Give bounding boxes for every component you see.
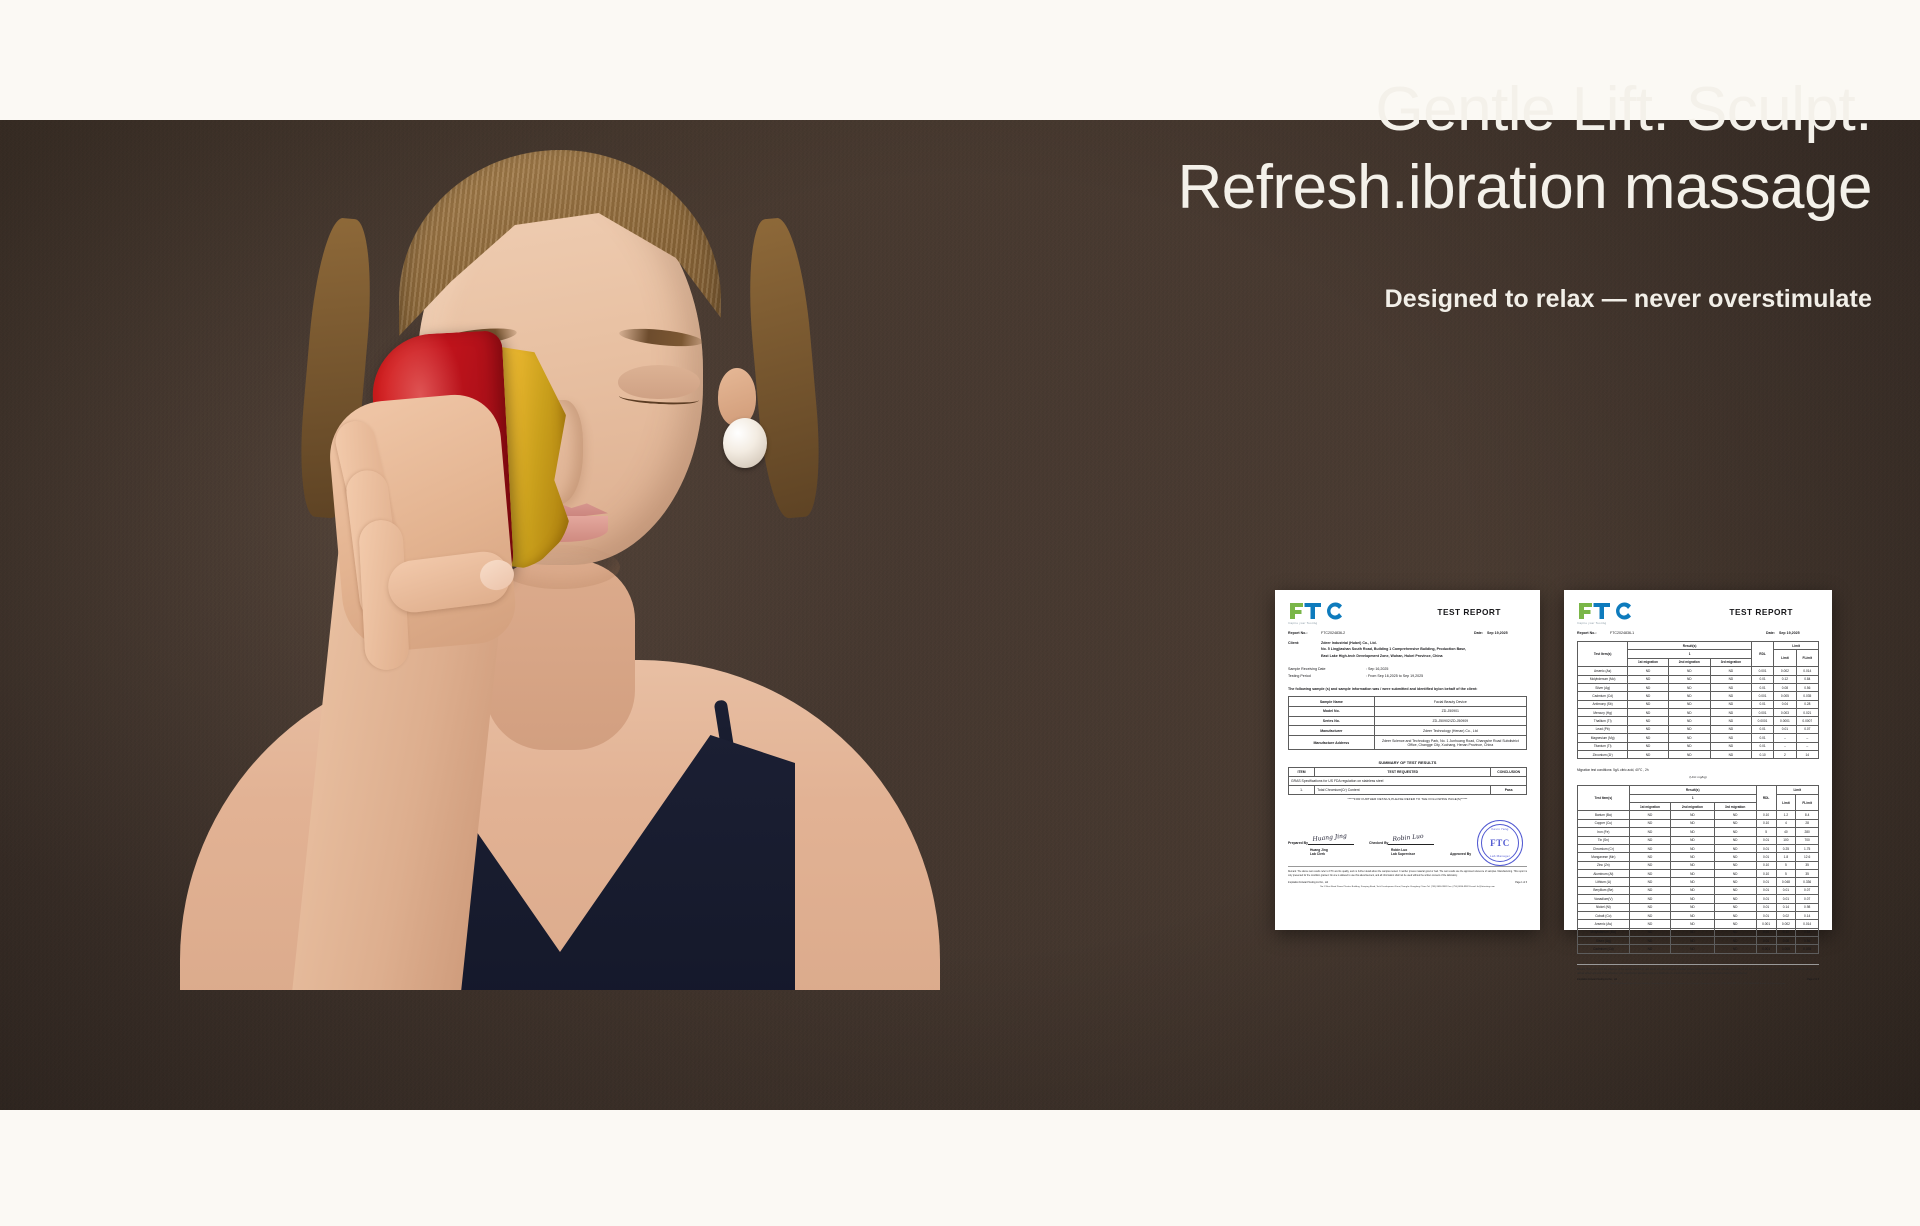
test-item-name: Cadmium (Cd) (1578, 692, 1628, 700)
test-item-name: Silver (Ag) (1578, 683, 1628, 691)
table-row: Tin (Sn)NDNDND0.01100700 (1578, 836, 1819, 844)
results-body-2: Barium (Ba)NDNDND0.101.28.4Copper (Cu)ND… (1578, 811, 1819, 953)
migration-1-result: ND (1628, 742, 1668, 750)
document-footer: Inspiration Forward Testing Ltd Co., Ltd… (1288, 882, 1527, 884)
client-block: Client: Zdeer Industrial (Hubei) Co., Lt… (1288, 640, 1527, 659)
summary-span-text: GRAS Specifications for US FDA regulatio… (1289, 777, 1527, 786)
test-item-name: Beryllium (Be) (1578, 886, 1630, 894)
results-body-1: Arsenic (As)NDNDND0.0010.0020.014Molybde… (1578, 667, 1819, 759)
signature-role: Lab Clerk (1310, 852, 1365, 856)
migration-2-result: ND (1668, 717, 1710, 725)
fl-limit-value: 0.84 (1796, 675, 1818, 683)
migration-2-result: ND (1671, 853, 1714, 861)
hero-copy-block: Gentle Lift. Sculpt. Refresh.ibration ma… (852, 75, 1872, 314)
table-row: Magnesium (Mg)NDNDND0.01---- (1578, 734, 1819, 742)
test-item-name: Zinc (Zn) (1578, 861, 1630, 869)
col-test-item: Test Item(s) (1578, 642, 1628, 667)
migration-1-result: ND (1629, 911, 1670, 919)
document-header: Inspire your Testing TEST REPORT (1577, 601, 1819, 625)
footer-company: Inspiration Forward Testing Ltd Co., Ltd (1577, 979, 1617, 981)
ftc-logo-mark (1288, 601, 1348, 621)
limit-value: 0.0001 (1774, 717, 1796, 725)
test-item-name: Cadmium (Cd) (1578, 945, 1630, 953)
test-item-name: Mercury (Hg) (1578, 709, 1628, 717)
table-row: Barium (Ba)NDNDND0.101.28.4 (1578, 811, 1819, 819)
report-no-label: Report No.: (1577, 631, 1610, 635)
migration-3-result: ND (1714, 811, 1756, 819)
limit-value: 0.01 (1774, 725, 1796, 733)
stamp-center-text: FTC (1490, 838, 1510, 848)
migration-2-result: ND (1671, 819, 1714, 827)
fl-limit-value: 0.014 (1796, 667, 1818, 675)
limit-value: 0.003 (1774, 709, 1796, 717)
signature-checked-by: Checked ByRobin Luo Robin Luo Lab Superv… (1369, 827, 1446, 856)
rdl-value: 0.10 (1756, 861, 1776, 869)
migration-1-result: ND (1628, 683, 1668, 691)
col-migration-3: 3rd migration (1714, 803, 1756, 811)
model-ear (718, 368, 756, 426)
migration-2-result: ND (1668, 667, 1710, 675)
fl-limit-value: 0.035 (1796, 945, 1819, 953)
migration-3-result: ND (1710, 692, 1751, 700)
test-item-name: Thallium (Tl) (1578, 717, 1628, 725)
migration-2-result: ND (1668, 675, 1710, 683)
rdl-value: 0.001 (1751, 667, 1773, 675)
signature-label: Prepared By (1288, 841, 1308, 845)
table-row: Antimony (Sb)NDNDND0.010.040.28 (1578, 700, 1819, 708)
migration-2-result: ND (1671, 945, 1714, 953)
client-label: Client: (1288, 640, 1321, 659)
rdl-value: 0.01 (1751, 742, 1773, 750)
migration-2-result: ND (1671, 895, 1714, 903)
fl-limit-value: 0.56 (1796, 683, 1818, 691)
migration-1-result: ND (1629, 853, 1670, 861)
rdl-value: 0.10 (1751, 750, 1773, 758)
col-test-item: Test Item(s) (1578, 786, 1630, 811)
limit-value: 0.002 (1776, 920, 1796, 928)
summary-item-no: 1. (1289, 786, 1315, 795)
migration-1-result: ND (1629, 937, 1670, 945)
migration-3-result: ND (1714, 920, 1756, 928)
fl-limit-value: 0.014 (1796, 920, 1819, 928)
table-row: Aluminum (Al)NDNDND0.10535 (1578, 870, 1819, 878)
table-row: Vanadium(V)NDNDND0.010.010.07 (1578, 895, 1819, 903)
headline-line-1: Gentle Lift. Sculpt. (852, 75, 1872, 145)
limit-value: 0.002 (1774, 667, 1796, 675)
col-conclusion: CONCLUSION (1491, 768, 1527, 777)
table-row: Cobalt (Co)NDNDND0.010.020.14 (1578, 911, 1819, 919)
test-item-name: Arsenic (As) (1578, 920, 1630, 928)
ftc-logo-mark (1577, 601, 1637, 621)
table-row: Beryllium (Be)NDNDND0.010.010.07 (1578, 886, 1819, 894)
table-row: Titanium (Ti)NDNDND0.01---- (1578, 742, 1819, 750)
migration-3-result: ND (1710, 750, 1751, 758)
test-item-name: Copper (Cu) (1578, 819, 1630, 827)
test-item-name: Molybdenum (Mo) (1578, 675, 1628, 683)
table-row: Molybdenum (Mo)NDNDND0.010.120.84 (1578, 928, 1819, 936)
migration-3-result: ND (1714, 945, 1756, 953)
migration-2-result: ND (1671, 828, 1714, 836)
signature-approved-by: Approved By Kevin Yang FTC Lab Manager (1450, 838, 1527, 856)
migration-2-result: ND (1671, 844, 1714, 852)
signature-scrawl: Huang Jing (1312, 832, 1347, 843)
limit-value: 0.08 (1774, 683, 1796, 691)
table-row: Arsenic (As)NDNDND0.0010.0020.014 (1578, 920, 1819, 928)
footer-company: Inspiration Forward Testing Ltd Co., Ltd (1288, 882, 1328, 884)
hair-side-right (742, 216, 826, 520)
migration-2-result: ND (1671, 911, 1714, 919)
test-item-name: Silver (Ag) (1578, 937, 1630, 945)
table-row: GRAS Specifications for US FDA regulatio… (1289, 777, 1527, 786)
rdl-value: 0.01 (1756, 911, 1776, 919)
summary-item-conclusion: Pass (1491, 786, 1527, 795)
migration-3-result: ND (1714, 886, 1756, 894)
rdl-value: 0.01 (1751, 683, 1773, 691)
migration-3-result: ND (1714, 853, 1756, 861)
migration-2-result: ND (1671, 836, 1714, 844)
table-row: Zinc (Zn)NDNDND0.10535 (1578, 861, 1819, 869)
rdl-value: 0.0001 (1751, 717, 1773, 725)
document-footer: Inspiration Forward Testing Ltd Co., Ltd… (1577, 979, 1819, 981)
rdl-value: 0.01 (1756, 928, 1776, 936)
info-value: Zdeer Technology (Henan) Co., Ltd (1374, 726, 1526, 736)
rdl-value: 0.01 (1756, 937, 1776, 945)
info-label: Manufacture Address (1289, 736, 1375, 750)
document-title: TEST REPORT (1729, 607, 1793, 617)
migration-3-result: ND (1714, 819, 1756, 827)
fl-limit-value: 35 (1796, 861, 1819, 869)
migration-3-result: ND (1714, 870, 1756, 878)
rdl-value: 0.01 (1751, 725, 1773, 733)
limit-value: 5 (1776, 861, 1796, 869)
info-label: Series No. (1289, 716, 1375, 726)
fl-limit-value: 0.07 (1796, 895, 1819, 903)
test-item-name: Nickel (Ni) (1578, 903, 1630, 911)
migration-2-result: ND (1668, 725, 1710, 733)
migration-results-table-2: Test Item(s) Result(s) RDL Limit 1 Limit… (1577, 785, 1819, 954)
results-sub-index: 1 (1629, 794, 1756, 802)
limit-value: 0.12 (1774, 675, 1796, 683)
report-date-value: Sep 19,2025 (1487, 631, 1527, 635)
report-no-value: FTC2024836-1 (1610, 631, 1634, 635)
limit-value: 0.01 (1776, 895, 1796, 903)
limit-value: -- (1774, 742, 1796, 750)
client-address-line-2: East Lake High-tech Development Zone, Wu… (1321, 653, 1466, 659)
test-item-name: Lead (Pb) (1578, 725, 1628, 733)
migration-1-result: ND (1629, 861, 1670, 869)
test-item-name: Vanadium(V) (1578, 895, 1630, 903)
limit-value: 0.08 (1776, 937, 1796, 945)
migration-1-result: ND (1628, 667, 1668, 675)
table-row: Copper (Cu)NDNDND0.10428 (1578, 819, 1819, 827)
table-row: Manufacture Address Zdeer Science and Te… (1289, 736, 1527, 750)
test-report-page-1[interactable]: Inspire your Testing TEST REPORT Report … (1275, 590, 1540, 930)
signature-line: Huang Jing (1308, 836, 1354, 845)
migration-3-result: ND (1710, 725, 1751, 733)
signature-label: Checked By (1369, 841, 1388, 845)
migration-3-result: ND (1710, 734, 1751, 742)
fl-limit-value: 0.0007 (1796, 717, 1818, 725)
limit-value: 0.04 (1774, 700, 1796, 708)
limit-value: 0.25 (1776, 844, 1796, 852)
limit-value: 1.2 (1776, 811, 1796, 819)
fl-limit-value: 0.07 (1796, 725, 1818, 733)
submission-note: The following sample (s) and sample info… (1288, 686, 1527, 692)
migration-1-result: ND (1629, 836, 1670, 844)
footer-page-number: Page 2 of 3 (1807, 979, 1819, 981)
signature-scrawl: Robin Luo (1393, 833, 1425, 843)
migration-3-result: ND (1714, 861, 1756, 869)
table-row: Lithium (Li)NDNDND0.010.0480.336 (1578, 878, 1819, 886)
migration-3-result: ND (1714, 911, 1756, 919)
rdl-value: 0.001 (1756, 945, 1776, 953)
limit-value: 0.048 (1776, 878, 1796, 886)
migration-2-result: ND (1671, 903, 1714, 911)
ftc-logo: Inspire your Testing (1577, 601, 1637, 625)
migration-1-result: ND (1628, 692, 1668, 700)
limit-value: 40 (1776, 828, 1796, 836)
footer-contact-bar: No.1 West Road Power Plastics Building, … (1288, 886, 1527, 888)
table-row: Iron (Fe)NDNDND540280 (1578, 828, 1819, 836)
migration-3-result: ND (1710, 717, 1751, 725)
table-row: Mercury (Hg)NDNDND0.0010.0030.021 (1578, 709, 1819, 717)
info-label: Model No. (1289, 706, 1375, 716)
fl-limit-value: -- (1796, 742, 1818, 750)
migration-1-result: ND (1629, 870, 1670, 878)
table-row: Lead (Pb)NDNDND0.010.010.07 (1578, 725, 1819, 733)
document-disclaimer: Remark: The above test results refer to … (1288, 866, 1527, 878)
headline-line-2: Refresh.ibration massage (852, 153, 1872, 223)
migration-1-result: ND (1629, 844, 1670, 852)
fl-limit-value: 0.14 (1796, 911, 1819, 919)
signature-prepared-by: Prepared ByHuang Jing Huang Jing Lab Cle… (1288, 827, 1365, 856)
col-test-requested: TEST REQUESTED (1315, 768, 1491, 777)
migration-2-result: ND (1671, 870, 1714, 878)
migration-1-result: ND (1628, 709, 1668, 717)
migration-1-result: ND (1629, 886, 1670, 894)
further-details-note: *****FOR FURTHER DETAILS,PLEASE REFER TO… (1288, 797, 1527, 801)
migration-2-result: ND (1668, 734, 1710, 742)
migration-1-result: ND (1628, 750, 1668, 758)
table-row: Zirconium (Zr)NDNDND0.10214 (1578, 750, 1819, 758)
table-row: Arsenic (As)NDNDND0.0010.0020.014 (1578, 667, 1819, 675)
fl-limit-value: 0.84 (1796, 928, 1819, 936)
model-product-photo: zdeer (150, 0, 970, 990)
summary-title: SUMMARY OF TEST RESULTS (1288, 760, 1527, 765)
fl-limit-value: 0.98 (1796, 903, 1819, 911)
migration-1-result: ND (1629, 878, 1670, 886)
report-meta-line: Report No.: FTC2024836-2 Date: Sep 19,20… (1288, 631, 1527, 635)
fl-limit-value: 14 (1796, 750, 1818, 758)
limit-value: 0.12 (1776, 928, 1796, 936)
migration-2-result: ND (1668, 700, 1710, 708)
migration-2-result: ND (1671, 878, 1714, 886)
rdl-value: 0.01 (1751, 734, 1773, 742)
table-row: Manufacturer Zdeer Technology (Henan) Co… (1289, 726, 1527, 736)
pearl-earring (723, 418, 767, 468)
limit-value: 2 (1774, 750, 1796, 758)
migration-2-result: ND (1671, 886, 1714, 894)
test-report-documents: Inspire your Testing TEST REPORT Report … (1275, 590, 1832, 930)
fl-limit-value: 0.021 (1796, 709, 1818, 717)
migration-conditions-note: Migration test conditions: 5g/L citric a… (1577, 768, 1819, 772)
test-report-page-2[interactable]: Inspire your Testing TEST REPORT Report … (1564, 590, 1832, 930)
fl-limit-value: 12.6 (1796, 853, 1819, 861)
info-label: Manufacturer (1289, 726, 1375, 736)
migration-1-result: ND (1629, 811, 1670, 819)
rdl-value: 0.001 (1756, 920, 1776, 928)
table-row: Model No. ZD-J50901 (1289, 706, 1527, 716)
info-value: Zdeer Science and Technology Park, No. 1… (1374, 736, 1526, 750)
migration-2-result: ND (1671, 811, 1714, 819)
test-item-name: Cobalt (Co) (1578, 911, 1630, 919)
col-migration-3: 3rd migration (1710, 658, 1751, 666)
migration-3-result: ND (1714, 878, 1756, 886)
document-disclaimer: Remark: This report is for the reference… (1577, 964, 1819, 976)
test-item-name: Lithium (Li) (1578, 878, 1630, 886)
limit-value: 5 (1776, 870, 1796, 878)
col-results-group: Result(s) (1629, 786, 1756, 794)
fl-limit-value: 0.28 (1796, 700, 1818, 708)
fl-limit-value: -- (1796, 734, 1818, 742)
limit-value: 0.01 (1776, 886, 1796, 894)
col-rdl: RDL (1751, 642, 1773, 667)
migration-3-result: ND (1710, 667, 1751, 675)
document-header: Inspire your Testing TEST REPORT (1288, 601, 1527, 625)
migration-3-result: ND (1714, 903, 1756, 911)
document-title: TEST REPORT (1437, 607, 1501, 617)
footer-contact-bar: No.1 West Road Power Plastics Building, … (1577, 983, 1819, 985)
table-row: Series No. ZD-J50902/ZD-J50909 (1289, 716, 1527, 726)
stamp-arc-top: Kevin Yang (1491, 827, 1508, 831)
migration-2-result: ND (1668, 692, 1710, 700)
col-rdl: RDL (1756, 786, 1776, 811)
migration-1-result: ND (1628, 700, 1668, 708)
migration-3-result: ND (1714, 928, 1756, 936)
report-meta-line: Report No.: FTC2024836-1 Date: Sep 19,20… (1577, 631, 1819, 635)
rdl-value: 0.01 (1756, 895, 1776, 903)
migration-2-result: ND (1671, 928, 1714, 936)
sample-receiving-row: Sample Receiving Date : Sep 16,2025 (1288, 667, 1527, 671)
test-item-name: Chromium (Cr) (1578, 844, 1630, 852)
rdl-value: 0.10 (1756, 819, 1776, 827)
migration-1-result: ND (1628, 717, 1668, 725)
migration-3-result: ND (1710, 742, 1751, 750)
fl-limit-value: 0.035 (1796, 692, 1818, 700)
signature-role: Lab Supervisor (1391, 852, 1446, 856)
migration-1-result: ND (1629, 928, 1670, 936)
col-limit-group: Limit (1774, 642, 1819, 650)
table-row: Thallium (Tl)NDNDND0.00010.00010.0007 (1578, 717, 1819, 725)
migration-1-result: ND (1628, 725, 1668, 733)
ftc-logo: Inspire your Testing (1288, 601, 1348, 625)
rdl-value: 5 (1756, 828, 1776, 836)
migration-3-result: ND (1710, 709, 1751, 717)
table-header-row: ITEM TEST REQUESTED CONCLUSION (1289, 768, 1527, 777)
table-row: Cadmium (Cd)NDNDND0.0010.0050.035 (1578, 945, 1819, 953)
migration-3-result: ND (1714, 828, 1756, 836)
footer-page-number: Page 1 of 3 (1515, 882, 1527, 884)
report-date-label: Date: (1766, 631, 1779, 635)
rdl-value: 0.01 (1756, 886, 1776, 894)
rdl-value: 0.10 (1756, 811, 1776, 819)
migration-3-result: ND (1714, 836, 1756, 844)
col-item: ITEM (1289, 768, 1315, 777)
summary-item-requested: Total Chromium(Cr) Content (1315, 786, 1491, 795)
migration-2-result: ND (1668, 742, 1710, 750)
signature-label: Approved By (1450, 852, 1471, 856)
migration-1-result: ND (1629, 819, 1670, 827)
limit-value: 0.14 (1776, 903, 1796, 911)
limit-value: 100 (1776, 836, 1796, 844)
hero-banner-page: zdeer Gentle Lift. Sculpt. Refresh.ibrat… (0, 0, 1920, 1226)
fl-limit-value: 700 (1796, 836, 1819, 844)
test-item-name: Magnesium (Mg) (1578, 734, 1628, 742)
rdl-value: 0.01 (1751, 675, 1773, 683)
fl-limit-value: 8.4 (1796, 811, 1819, 819)
fl-limit-value: 28 (1796, 819, 1819, 827)
sample-info-table: Sample Name Facial Beauty Device Model N… (1288, 696, 1527, 750)
limit-value: 0.005 (1776, 945, 1796, 953)
migration-1-result: ND (1629, 920, 1670, 928)
fl-limit-value: 1.75 (1796, 844, 1819, 852)
col-migration-2: 2nd migration (1668, 658, 1710, 666)
report-date-label: Date: (1474, 631, 1487, 635)
test-item-name: Arsenic (As) (1578, 667, 1628, 675)
migration-2-result: ND (1671, 861, 1714, 869)
migration-1-result: ND (1628, 675, 1668, 683)
migration-1-result: ND (1629, 945, 1670, 953)
migration-3-result: ND (1710, 700, 1751, 708)
test-item-name: Aluminum (Al) (1578, 870, 1630, 878)
table-row: 1. Total Chromium(Cr) Content Pass (1289, 786, 1527, 795)
info-label: Sample Name (1289, 697, 1375, 707)
table-row: Nickel (Ni)NDNDND0.010.140.98 (1578, 903, 1819, 911)
limit-value: 1.8 (1776, 853, 1796, 861)
client-address-line-1: No. 5 Lingjiashan South Road, Building 1… (1321, 646, 1466, 652)
report-no-label: Report No.: (1288, 631, 1321, 635)
report-no-value: FTC2024836-2 (1321, 631, 1345, 635)
migration-3-result: ND (1714, 937, 1756, 945)
migration-1-result: ND (1629, 903, 1670, 911)
info-value: Facial Beauty Device (1374, 697, 1526, 707)
migration-3-result: ND (1714, 895, 1756, 903)
ftc-logo-tagline: Inspire your Testing (1577, 622, 1637, 625)
migration-3-result: ND (1710, 683, 1751, 691)
migration-3-result: ND (1714, 844, 1756, 852)
migration-2-result: ND (1668, 750, 1710, 758)
limit-value: -- (1774, 734, 1796, 742)
test-item-name: Barium (Ba) (1578, 811, 1630, 819)
migration-2-result: ND (1671, 920, 1714, 928)
limit-value: 0.02 (1776, 911, 1796, 919)
migration-2-result: ND (1668, 709, 1710, 717)
table-row: Chromium (Cr)NDNDND0.010.251.75 (1578, 844, 1819, 852)
subheadline: Designed to relax — never overstimulate (852, 285, 1872, 314)
test-item-name: Tin (Sn) (1578, 836, 1630, 844)
col-migration-1: 1st migration (1629, 803, 1670, 811)
test-item-name: Iron (Fe) (1578, 828, 1630, 836)
test-item-name: Molybdenum (Mo) (1578, 928, 1630, 936)
testing-period-row: Testing Period : From Sep 16,2025 to Sep… (1288, 674, 1527, 678)
rdl-value: 0.001 (1751, 709, 1773, 717)
migration-results-table-1: Test Item(s) Result(s) RDL Limit 1 Limit… (1577, 641, 1819, 759)
migration-1-result: ND (1629, 895, 1670, 903)
test-item-name: Manganese (Mn) (1578, 853, 1630, 861)
rdl-value: 0.10 (1756, 870, 1776, 878)
rdl-value: 0.01 (1756, 878, 1776, 886)
rdl-value: 0.01 (1756, 836, 1776, 844)
